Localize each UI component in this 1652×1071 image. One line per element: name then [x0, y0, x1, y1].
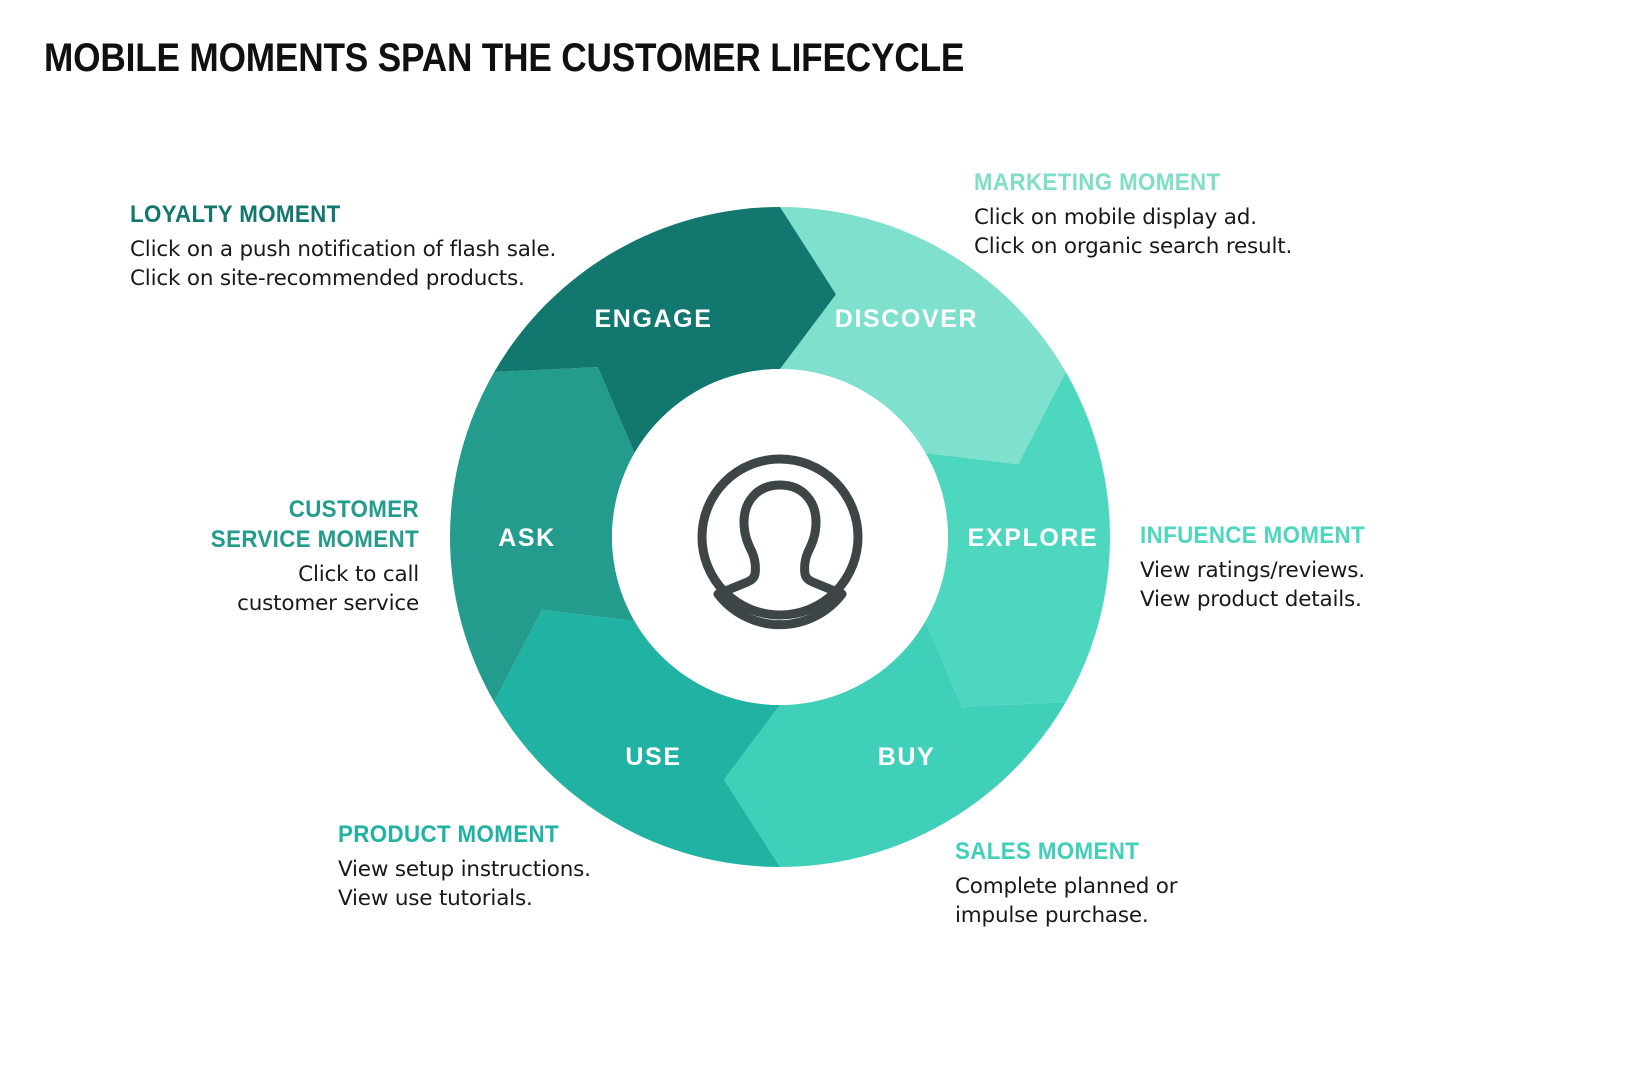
wheel-label-use: USE: [625, 743, 681, 771]
page-title: MOBILE MOMENTS SPAN THE CUSTOMER LIFECYC…: [44, 36, 964, 81]
wheel-label-engage: ENGAGE: [595, 305, 713, 333]
wheel-label-discover: DISCOVER: [835, 305, 978, 333]
wheel-hub: [612, 369, 948, 705]
callout-customer-service-moment: CUSTOMER SERVICE MOMENT Click to call cu…: [0, 495, 419, 618]
customer-lifecycle-wheel: DISCOVEREXPLOREBUYUSEASKENGAGE: [450, 207, 1110, 867]
wheel-label-explore: EXPLORE: [968, 524, 1099, 552]
wheel-label-ask: ASK: [498, 524, 556, 552]
callout-customer-service-title: CUSTOMER SERVICE MOMENT: [0, 495, 419, 555]
callout-sales-body: Complete planned or impulse purchase.: [955, 873, 1425, 930]
callout-marketing-title: MARKETING MOMENT: [974, 168, 1411, 198]
callout-influence-moment: INFUENCE MOMENT View ratings/reviews. Vi…: [1140, 521, 1610, 614]
callout-influence-title: INFUENCE MOMENT: [1140, 521, 1577, 551]
callout-customer-service-body: Click to call customer service: [0, 561, 419, 618]
callout-influence-body: View ratings/reviews. View product detai…: [1140, 557, 1610, 614]
wheel-label-buy: BUY: [878, 743, 936, 771]
